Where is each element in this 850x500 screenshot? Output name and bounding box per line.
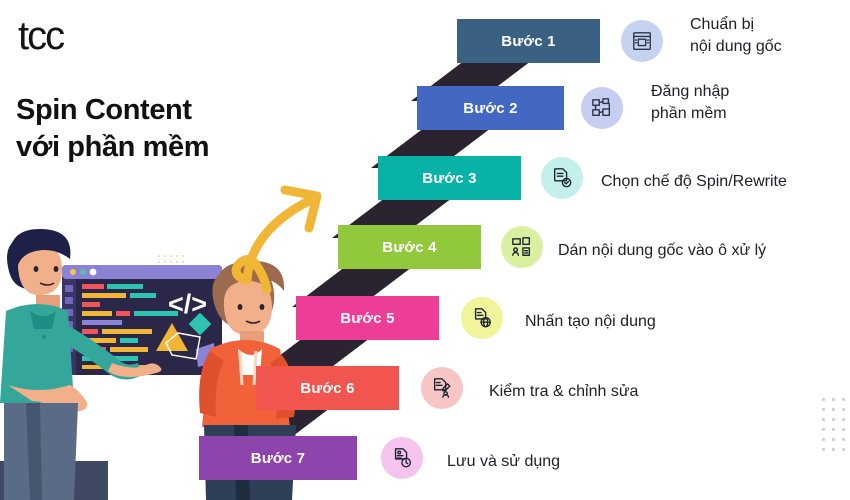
step-description-5: Nhấn tạo nội dung	[525, 311, 656, 333]
step-icon-bubble-7	[381, 437, 423, 479]
dot	[832, 448, 835, 451]
step-bar-7[interactable]: Bước 7	[199, 436, 357, 480]
dot	[832, 398, 835, 401]
step-bar-3[interactable]: Bước 3	[378, 156, 521, 200]
dot	[842, 448, 845, 451]
step-description-1: Chuẩn bị nội dung gốc	[690, 14, 782, 58]
infographic-canvas: tcc Spin Content với phần mềm	[0, 0, 850, 500]
step-icon-bubble-5	[461, 297, 503, 339]
form-document-icon	[631, 30, 653, 52]
document-people-icon	[511, 236, 533, 258]
step-bar-6[interactable]: Bước 6	[256, 366, 399, 410]
document-globe-icon	[471, 307, 493, 329]
step-description-6: Kiểm tra & chỉnh sửa	[489, 381, 638, 403]
dot	[842, 418, 845, 421]
document-edit-icon	[431, 377, 453, 399]
dot	[842, 408, 845, 411]
step-description-2: Đăng nhập phần mềm	[651, 81, 729, 125]
dot	[822, 418, 825, 421]
document-check-icon	[551, 167, 573, 189]
dot	[842, 428, 845, 431]
step-bar-4[interactable]: Bước 4	[338, 225, 481, 269]
curved-up-right-arrow-icon	[225, 168, 340, 293]
dot-grid-decoration-right	[822, 398, 845, 451]
dot	[822, 398, 825, 401]
step-icon-bubble-1	[621, 20, 663, 62]
step-icon-bubble-4	[501, 226, 543, 268]
step-icon-bubble-2	[581, 87, 623, 129]
dot	[832, 418, 835, 421]
step-bar-5[interactable]: Bước 5	[296, 296, 439, 340]
dot	[822, 408, 825, 411]
dot	[832, 438, 835, 441]
dot	[822, 448, 825, 451]
step-bar-1[interactable]: Bước 1	[457, 19, 600, 63]
network-nodes-icon	[591, 97, 613, 119]
step-icon-bubble-6	[421, 367, 463, 409]
step-icon-bubble-3	[541, 157, 583, 199]
step-description-4: Dán nội dung gốc vào ô xử lý	[558, 240, 766, 262]
document-clock-icon	[391, 447, 413, 469]
step-description-7: Lưu và sử dụng	[447, 451, 560, 473]
dot	[832, 428, 835, 431]
step-description-3: Chọn chế độ Spin/Rewrite	[601, 171, 787, 193]
dot	[842, 438, 845, 441]
dot	[832, 408, 835, 411]
dot	[822, 438, 825, 441]
dot	[822, 428, 825, 431]
dot	[842, 398, 845, 401]
step-bar-2[interactable]: Bước 2	[417, 86, 564, 130]
